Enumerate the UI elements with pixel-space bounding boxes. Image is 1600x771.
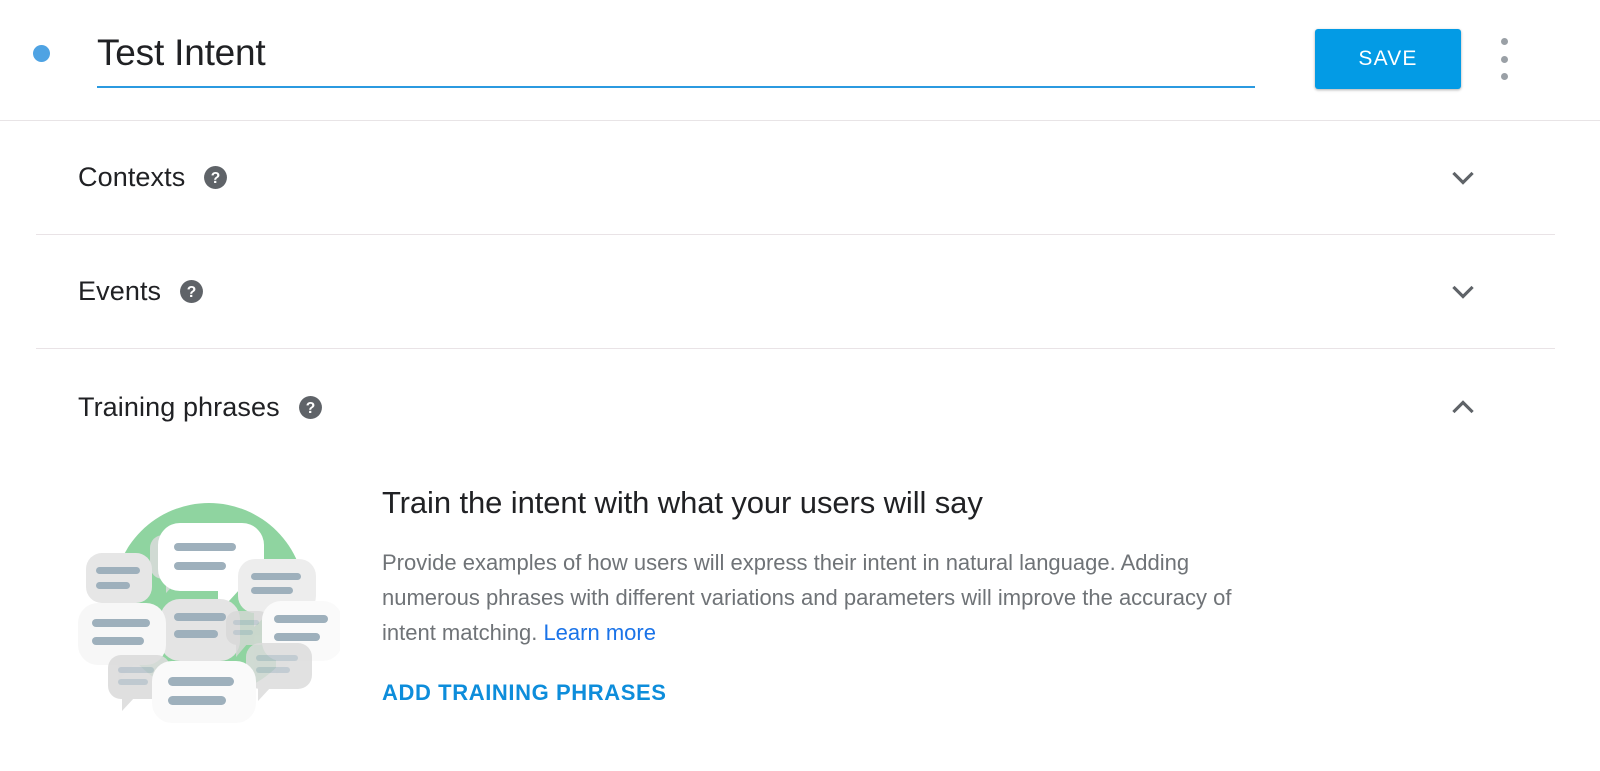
menu-dot bbox=[1501, 38, 1508, 45]
section-training-phrases[interactable]: Training phrases ? bbox=[36, 349, 1555, 465]
more-options-icon[interactable] bbox=[1492, 38, 1516, 80]
svg-text:?: ? bbox=[305, 400, 315, 417]
chevron-down-icon[interactable] bbox=[1446, 161, 1480, 195]
learn-more-link[interactable]: Learn more bbox=[543, 620, 656, 645]
help-circle-icon[interactable]: ? bbox=[298, 395, 323, 420]
training-phrases-heading: Train the intent with what your users wi… bbox=[382, 485, 1267, 521]
section-training-phrases-label: Training phrases bbox=[78, 392, 280, 423]
help-circle-icon[interactable]: ? bbox=[203, 165, 228, 190]
training-phrases-description-text: Provide examples of how users will expre… bbox=[382, 550, 1231, 645]
chevron-up-icon[interactable] bbox=[1446, 390, 1480, 424]
help-circle-icon[interactable]: ? bbox=[179, 279, 204, 304]
intent-status-dot bbox=[33, 45, 50, 62]
section-training-phrases-header: Training phrases ? bbox=[36, 392, 323, 423]
intent-name-value[interactable]: Test Intent bbox=[97, 22, 1255, 84]
menu-dot bbox=[1501, 56, 1508, 63]
training-phrases-description: Provide examples of how users will expre… bbox=[382, 545, 1267, 650]
chevron-down-icon[interactable] bbox=[1446, 275, 1480, 309]
section-contexts[interactable]: Contexts ? bbox=[36, 121, 1555, 235]
add-training-phrases-button[interactable]: ADD TRAINING PHRASES bbox=[382, 680, 667, 706]
training-phrases-empty-state: Train the intent with what your users wi… bbox=[0, 473, 1600, 723]
section-contexts-label: Contexts bbox=[78, 162, 185, 193]
save-button[interactable]: SAVE bbox=[1315, 29, 1461, 89]
speech-bubbles-illustration bbox=[78, 477, 340, 723]
section-contexts-header: Contexts ? bbox=[36, 162, 228, 193]
intent-header: Test Intent SAVE bbox=[0, 0, 1600, 121]
svg-text:?: ? bbox=[211, 170, 221, 187]
intent-name-input[interactable]: Test Intent bbox=[97, 22, 1255, 88]
section-events-label: Events bbox=[78, 276, 161, 307]
section-events[interactable]: Events ? bbox=[36, 235, 1555, 349]
section-events-header: Events ? bbox=[36, 276, 204, 307]
menu-dot bbox=[1501, 73, 1508, 80]
svg-text:?: ? bbox=[187, 284, 197, 301]
training-phrases-copy: Train the intent with what your users wi… bbox=[382, 473, 1267, 706]
